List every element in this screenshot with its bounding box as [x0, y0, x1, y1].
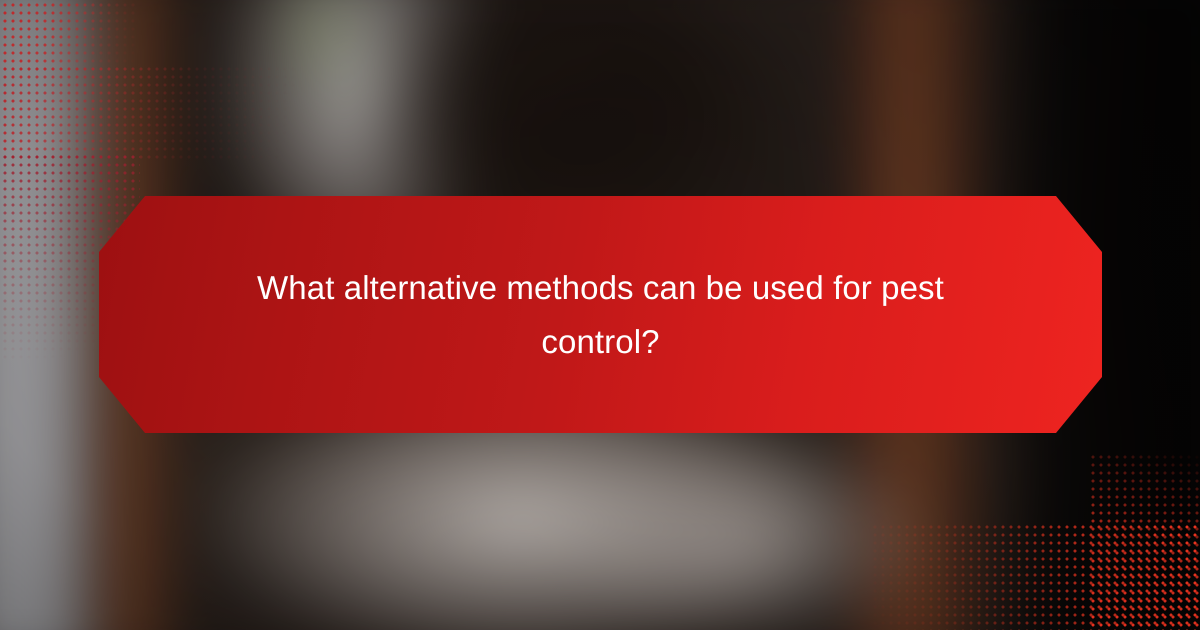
question-text: What alternative methods can be used for…: [221, 261, 981, 369]
question-banner: What alternative methods can be used for…: [99, 196, 1102, 433]
social-card: What alternative methods can be used for…: [0, 0, 1200, 630]
